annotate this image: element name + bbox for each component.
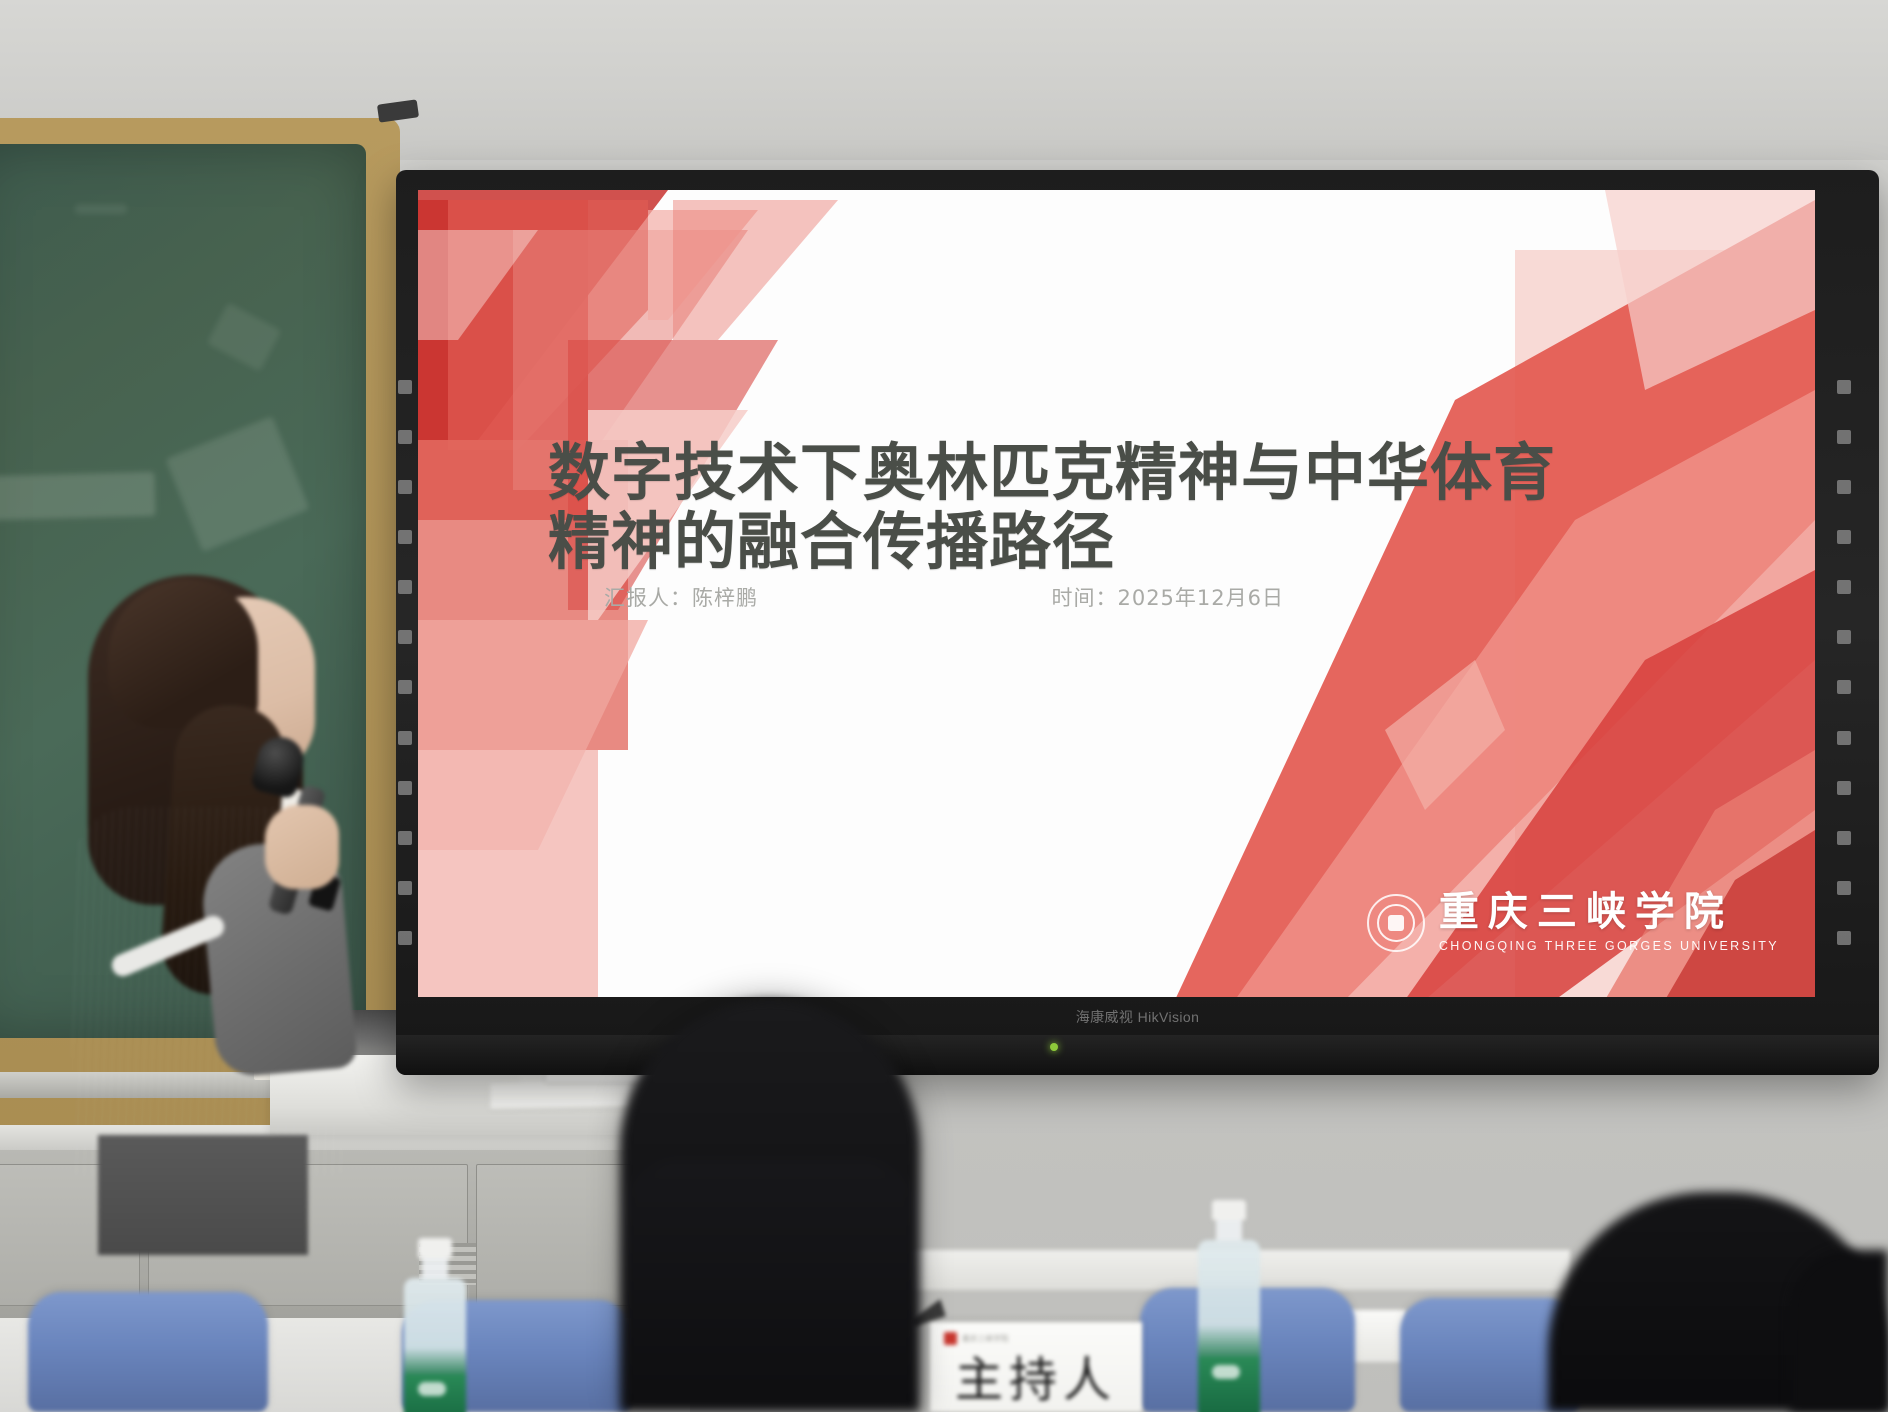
- water-bottle: [404, 1238, 466, 1412]
- water-bottle: [1198, 1200, 1260, 1412]
- host-placard: 重庆三峡学院 主持人: [930, 1322, 1142, 1412]
- audience-member-far-right: [1790, 1250, 1888, 1412]
- slide-meta: 汇报人：陈梓鹏 时间：2025年12月6日: [604, 582, 1284, 612]
- placard-role-text: 主持人: [930, 1356, 1142, 1404]
- display-screen[interactable]: 数字技术下奥林匹克精神与中华体育精神的融合传播路径 汇报人：陈梓鹏 时间：202…: [418, 190, 1815, 997]
- presenter-hand: [265, 805, 339, 889]
- papers: [490, 1081, 630, 1109]
- university-logo: 重庆三峡学院 CHONGQING THREE GORGES UNIVERSITY: [1367, 892, 1779, 953]
- smart-display[interactable]: 数字技术下奥林匹克精神与中华体育精神的融合传播路径 汇报人：陈梓鹏 时间：202…: [396, 170, 1879, 1075]
- display-brand-label: 海康威视 HikVision: [396, 1007, 1879, 1027]
- power-led-indicator: [1050, 1043, 1058, 1051]
- placard-org-logo: 重庆三峡学院: [944, 1332, 1009, 1345]
- university-name-en: CHONGQING THREE GORGES UNIVERSITY: [1439, 939, 1779, 953]
- speaker-grille-left: [398, 380, 414, 945]
- audience-member-center: [620, 1000, 920, 1412]
- date-label: 时间：2025年12月6日: [1051, 582, 1284, 612]
- chair: [28, 1292, 268, 1412]
- slide-title: 数字技术下奥林匹克精神与中华体育精神的融合传播路径: [548, 438, 1578, 577]
- presentation-slide: 数字技术下奥林匹克精神与中华体育精神的融合传播路径 汇报人：陈梓鹏 时间：202…: [418, 190, 1815, 997]
- presenter-label: 汇报人：陈梓鹏: [604, 582, 758, 612]
- university-name-cn: 重庆三峡学院: [1439, 892, 1779, 932]
- presenter: [50, 575, 390, 1175]
- speaker-grille-right: [1837, 380, 1853, 945]
- display-bottom-bezel: [396, 1035, 1879, 1075]
- university-seal-icon: [1367, 894, 1425, 952]
- org-mark-icon: [944, 1332, 957, 1345]
- classroom-scene: 数字技术下奥林匹克精神与中华体育精神的融合传播路径 汇报人：陈梓鹏 时间：202…: [0, 0, 1888, 1412]
- placard-org-name: 重庆三峡学院: [962, 1333, 1009, 1344]
